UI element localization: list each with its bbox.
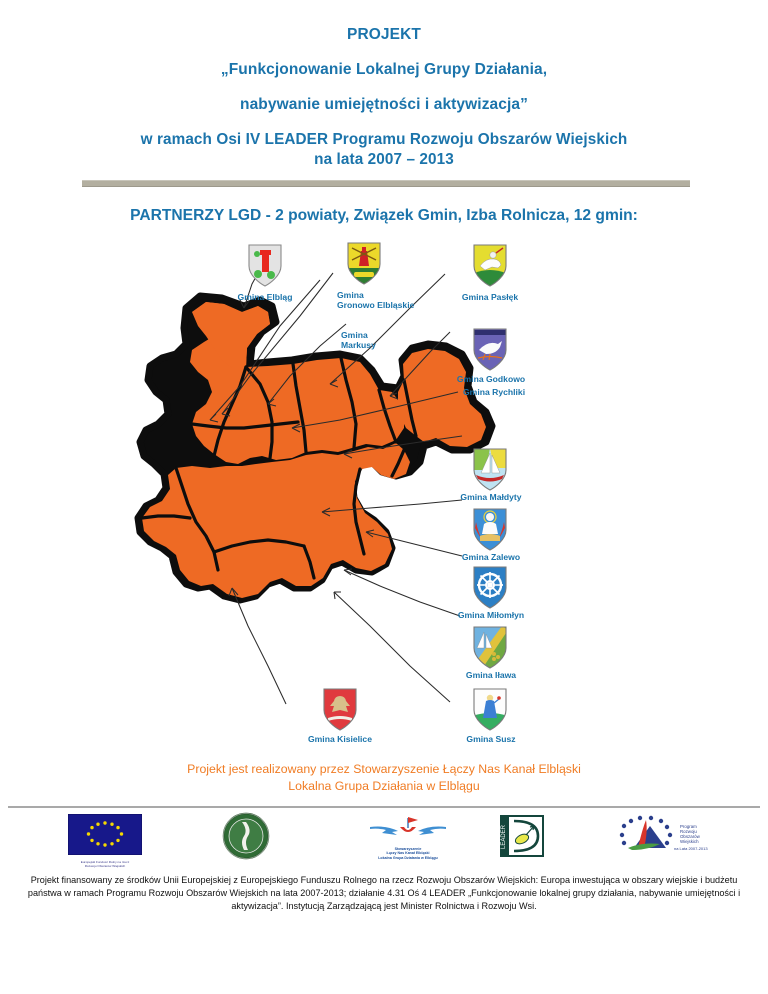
map-label-paslek: Gmina Pasłęk xyxy=(440,292,540,302)
project-title-line-1: „Funkcjonowanie Lokalnej Grupy Działania… xyxy=(0,61,768,79)
leader-line-kisielice xyxy=(232,588,286,704)
leader-line-susz xyxy=(334,592,450,702)
project-title-line-2: nabywanie umiejętności i aktywizacja” xyxy=(0,96,768,114)
map-label-maldyty: Gmina Małdyty xyxy=(438,492,544,502)
gmina-maldyty-crest xyxy=(472,448,508,492)
gmina-kisielice-crest xyxy=(322,688,358,732)
page-title: PROJEKT xyxy=(0,26,768,44)
map-label-kisielice: Gmina Kisielice xyxy=(288,734,392,744)
footer-divider xyxy=(8,806,760,808)
prow-logo-line4: Wiejskich xyxy=(680,839,699,844)
map-label-susz: Gmina Susz xyxy=(440,734,542,744)
funding-disclaimer: Projekt finansowany ze środków Unii Euro… xyxy=(14,874,754,913)
prow-logo-block: Program Rozwoju Obszarów Wiejskich na La… xyxy=(604,814,714,861)
gmina-elblag-crest xyxy=(247,244,283,288)
header-divider xyxy=(82,180,690,187)
stowarzyszenie-lgd-logo xyxy=(352,815,464,841)
prow-logo-years: na Lata 2007-2013 xyxy=(674,846,708,851)
prow-logo: Program Rozwoju Obszarów Wiejskich na La… xyxy=(604,814,714,856)
municipality-map: Gmina Elbląg Gmina Gronowo Elbląskie Gmi… xyxy=(0,236,768,756)
map-label-godkowo: Gmina Godkowo xyxy=(436,374,546,384)
project-subtitle: w ramach Osi IV LEADER Programu Rozwoju … xyxy=(0,130,768,170)
gmina-paslek-crest xyxy=(472,244,508,288)
poster-page: PROJEKT „Funkcjonowanie Lokalnej Grupy D… xyxy=(0,0,768,994)
funding-logo-strip: Europejski Fundusz Rolny na rzecz Rozwoj… xyxy=(0,812,768,866)
map-label-gronowo-elblaskie: Gmina Gronowo Elbląskie xyxy=(337,290,457,311)
green-seal-logo xyxy=(222,812,270,860)
eu-flag-logo-caption: Europejski Fundusz Rolny na rzecz Rozwoj… xyxy=(68,861,142,869)
gmina-ilawa-crest xyxy=(472,626,508,670)
green-seal-logo-block xyxy=(222,812,270,865)
leader-logo-block: LEADER xyxy=(500,815,544,862)
stowarzyszenie-logo-block: Stowarzyszenie Łączy Nas Kanał Elbląski … xyxy=(352,815,464,860)
gmina-susz-crest xyxy=(472,688,508,732)
map-label-elblag: Gmina Elbląg xyxy=(215,292,315,302)
gmina-zalewo-crest xyxy=(472,508,508,552)
leader-logo-text: LEADER xyxy=(501,824,507,849)
gmina-gronowo-elblaskie-crest xyxy=(346,242,382,286)
european-union-flag-logo xyxy=(68,814,142,855)
poster-header: PROJEKT „Funkcjonowanie Lokalnej Grupy D… xyxy=(0,0,768,170)
map-label-rychliki: Gmina Rychliki xyxy=(463,387,573,397)
map-graphic xyxy=(0,236,768,756)
map-label-ilawa: Gmina Iława xyxy=(440,670,542,680)
map-label-zalewo: Gmina Zalewo xyxy=(438,552,544,562)
gmina-milomlyn-crest xyxy=(472,566,508,610)
gmina-godkowo-crest xyxy=(472,328,508,372)
partners-heading: PARTNERZY LGD - 2 powiaty, Związek Gmin,… xyxy=(0,207,768,225)
stowarzyszenie-logo-caption: Stowarzyszenie Łączy Nas Kanał Elbląski … xyxy=(352,847,464,860)
leader-logo: LEADER xyxy=(500,815,544,857)
map-label-milomlyn: Gmina Miłomłyn xyxy=(434,610,548,620)
realized-by-text: Projekt jest realizowany przez Stowarzys… xyxy=(0,761,768,794)
map-label-markusy: Gmina Markusy xyxy=(341,330,431,351)
eu-flag-logo-block: Europejski Fundusz Rolny na rzecz Rozwoj… xyxy=(68,814,142,869)
